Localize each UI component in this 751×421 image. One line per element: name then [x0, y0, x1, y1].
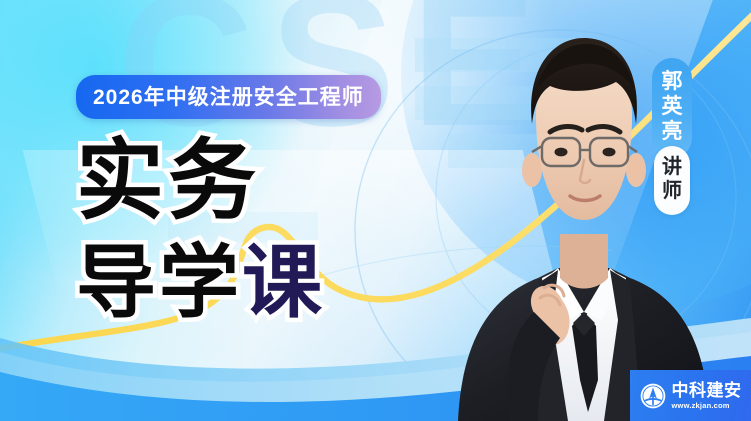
instructor-name-char: 亮: [652, 120, 692, 145]
instructor-name-char: 郭: [652, 70, 692, 95]
brand-name: 中科建安: [672, 382, 742, 399]
instructor-role-badge: 讲 师: [654, 146, 690, 215]
page-subtitle-accent: 课: [242, 238, 325, 327]
page-subtitle: 导学课: [76, 243, 325, 323]
star-emblem-icon: [640, 383, 666, 409]
course-banner: CSE: [0, 0, 751, 421]
logo-text-group: 中科建安 www.zkjan.com: [672, 382, 742, 410]
instructor-role-char: 讲: [654, 156, 690, 180]
page-subtitle-plain: 导学: [76, 238, 242, 327]
instructor-name-badge: 郭 英 亮: [652, 58, 692, 158]
page-title: 实务: [76, 138, 260, 224]
course-subject-badge: 2026年中级注册安全工程师: [76, 75, 381, 119]
instructor-name-char: 英: [652, 95, 692, 120]
brand-url: www.zkjan.com: [672, 402, 742, 410]
brand-logo: 中科建安 www.zkjan.com: [630, 370, 751, 421]
instructor-role-char: 师: [654, 180, 690, 204]
